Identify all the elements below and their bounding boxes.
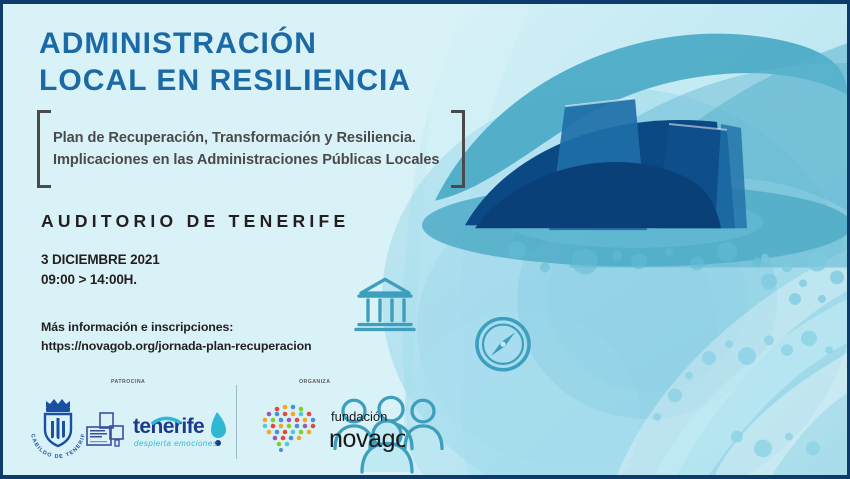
registration-info: Más información e inscripciones: https:/…	[41, 318, 311, 356]
subtitle-bracket-block: Plan de Recuperación, Transformación y R…	[37, 110, 465, 188]
content-column: ADMINISTRACIÓN LOCAL EN RESILIENCIA Plan…	[3, 4, 503, 475]
event-datetime: 3 DICIEMBRE 2021 09:00 > 14:00H.	[41, 250, 160, 290]
subtitle-line-2: Implicaciones en las Administraciones Pú…	[53, 149, 449, 171]
subtitle: Plan de Recuperación, Transformación y R…	[53, 127, 449, 171]
page-title: ADMINISTRACIÓN LOCAL EN RESILIENCIA	[39, 26, 479, 99]
tenerife-icon: tenerife despierta emociones	[131, 409, 231, 451]
organiza-label: ORGANIZA	[299, 379, 330, 385]
logo-cabildo-de-tenerife[interactable]: CABILDO DE TENERIFE	[21, 397, 95, 459]
event-poster: ADMINISTRACIÓN LOCAL EN RESILIENCIA Plan…	[0, 0, 850, 479]
subtitle-line-1: Plan de Recuperación, Transformación y R…	[53, 127, 449, 149]
logo-tenerife[interactable]: tenerife despierta emociones	[131, 409, 231, 451]
venue-name: AUDITORIO DE TENERIFE	[41, 211, 349, 232]
title-line-2: LOCAL EN RESILIENCIA	[39, 63, 479, 100]
registration-label: Más información e inscripciones:	[41, 318, 311, 337]
bracket-left-icon	[37, 110, 51, 188]
logo-plan-de-recuperacion[interactable]	[85, 411, 129, 451]
event-time: 09:00 > 14:00H.	[41, 270, 160, 290]
cabildo-de-tenerife-icon: CABILDO DE TENERIFE	[21, 397, 95, 459]
sponsor-footer: PATROCINA ORGANIZA	[3, 373, 433, 469]
bracket-right-icon	[451, 110, 465, 188]
svg-text:fundación: fundación	[331, 409, 387, 424]
footer-divider	[236, 385, 237, 459]
svg-text:despierta emociones: despierta emociones	[134, 439, 217, 448]
fundacion-novagob-icon: fundación novagob	[255, 399, 405, 457]
logo-fundacion-novagob[interactable]: fundación novagob	[255, 399, 405, 457]
patrocina-label: PATROCINA	[111, 379, 145, 385]
event-date: 3 DICIEMBRE 2021	[41, 250, 160, 270]
registration-url[interactable]: https://novagob.org/jornada-plan-recuper…	[41, 339, 311, 353]
svg-text:novagob: novagob	[329, 425, 405, 453]
plan-de-recuperacion-icon	[85, 411, 129, 451]
title-line-1: ADMINISTRACIÓN	[39, 26, 479, 63]
